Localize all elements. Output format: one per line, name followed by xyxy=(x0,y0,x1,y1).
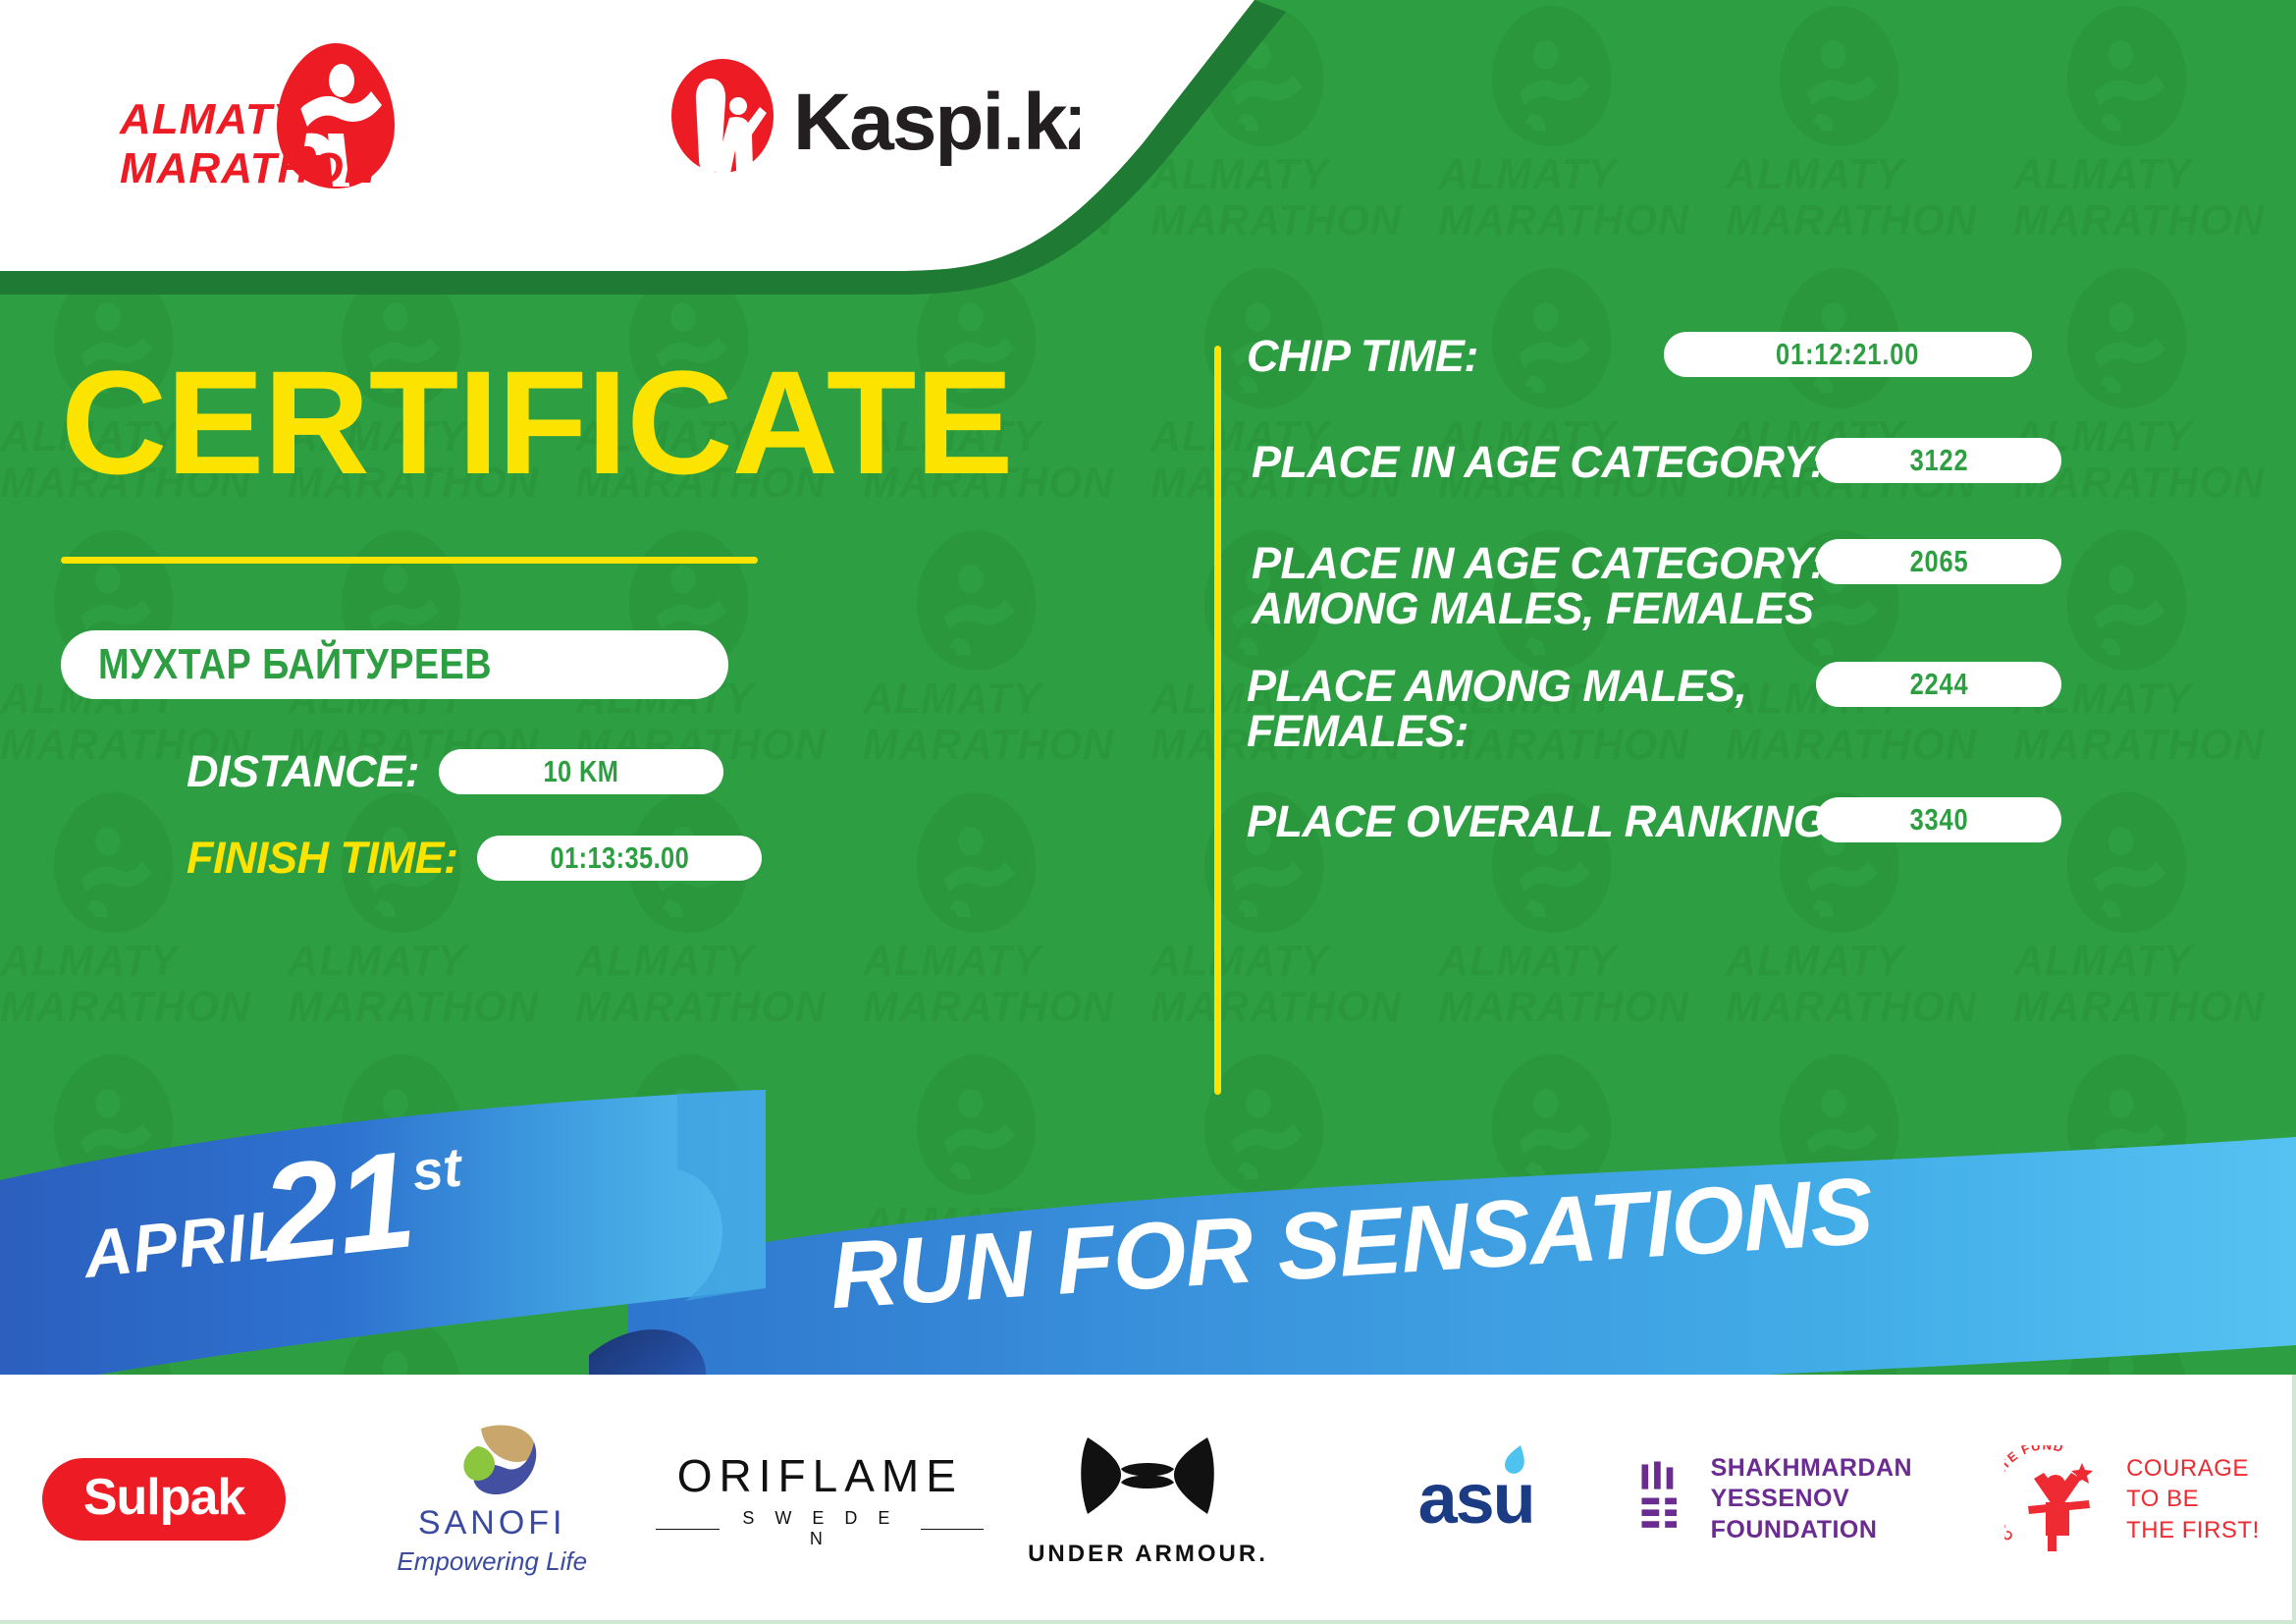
place-among-males-females-label: PLACE AMONG MALES, FEMALES: xyxy=(1247,664,1746,754)
finish-time-value: 01:13:35.00 xyxy=(551,840,690,876)
sponsor-yessenov-foundation: SHAKHMARDAN YESSENOV FOUNDATION xyxy=(1640,1406,1968,1593)
participant-name-field: МУХТАР БАЙТУРЕЕВ xyxy=(61,630,728,699)
place-overall-ranking-label: PLACE OVERALL RANKING: xyxy=(1247,799,1842,844)
finish-time-value-pill: 01:13:35.00 xyxy=(477,836,762,881)
footer-right-border xyxy=(2292,1375,2296,1624)
title-underline-rule xyxy=(61,557,758,564)
sponsor-sulpak: Sulpak xyxy=(0,1406,328,1593)
sulpak-logo-text: Sulpak xyxy=(42,1458,287,1541)
place-overall-ranking-value: 3340 xyxy=(1909,802,1968,838)
place-among-males-females-value-pill: 2244 xyxy=(1816,662,2061,707)
under-armour-logo-text: UNDER ARMOUR. xyxy=(1028,1541,1268,1568)
oriflame-rule-right xyxy=(921,1529,985,1530)
place-age-category-value: 3122 xyxy=(1909,443,1968,478)
place-overall-ranking-value-pill: 3340 xyxy=(1816,797,2061,842)
results-panel: CHIP TIME: 01:12:21.00 PLACE IN AGE CATE… xyxy=(1247,324,2296,1100)
place-age-category-among-label: PLACE IN AGE CATEGORY: AMONG MALES, FEMA… xyxy=(1252,541,1824,631)
header-logos: ALMATY MARATHON Kaspi.kz xyxy=(0,0,1178,245)
distance-row: DISTANCE: 10 KM xyxy=(187,746,723,797)
place-among-males-females-value: 2244 xyxy=(1909,667,1968,702)
sponsor-corporate-fund: CORPORATE FUND COURAGE TO BE THE FIRST! xyxy=(1968,1406,2296,1593)
certificate-left-panel: CERTIFICATE МУХТАР БАЙТУРЕЕВ DISTANCE: 1… xyxy=(0,324,1217,1100)
distance-label: DISTANCE: xyxy=(187,746,419,797)
chip-time-label: CHIP TIME: xyxy=(1247,334,1478,379)
yessenov-logo-text: SHAKHMARDAN YESSENOV FOUNDATION xyxy=(1711,1453,1968,1545)
participant-name-value: МУХТАР БАЙТУРЕЕВ xyxy=(98,640,492,689)
sanofi-logo-text: SANOFI xyxy=(397,1504,587,1543)
asu-droplet-icon xyxy=(1495,1443,1534,1483)
kaspi-logo-text: Kaspi.kz xyxy=(793,78,1080,167)
corporate-fund-logo-text: COURAGE TO BE THE FIRST! xyxy=(2126,1453,2260,1545)
ribbon-day-suffix: st xyxy=(409,1135,465,1204)
corporate-fund-runner-icon: CORPORATE FUND xyxy=(2004,1445,2112,1553)
under-armour-mark-icon xyxy=(1074,1432,1221,1530)
sanofi-mark-icon xyxy=(438,1423,546,1499)
footer-bottom-border xyxy=(0,1620,2296,1624)
almaty-marathon-logo: ALMATY MARATHON xyxy=(118,39,432,206)
place-age-category-label: PLACE IN AGE CATEGORY: xyxy=(1252,440,1824,485)
oriflame-rule-left xyxy=(656,1529,720,1530)
place-age-category-value-pill: 3122 xyxy=(1816,438,2061,483)
sponsor-asu: asu xyxy=(1312,1406,1640,1593)
sponsor-oriflame: ORIFLAME S W E D E N xyxy=(656,1406,984,1593)
certificate-canvas: ALMATY MARATHON ALMATY MARATHON xyxy=(0,0,2296,1624)
distance-value: 10 KM xyxy=(544,754,619,789)
kaspi-logo: Kaspi.kz xyxy=(667,57,1080,175)
sanofi-tagline: Empowering Life xyxy=(397,1546,587,1577)
certificate-title: CERTIFICATE xyxy=(61,349,1160,496)
vertical-divider xyxy=(1214,346,1221,1095)
chip-time-value-pill: 01:12:21.00 xyxy=(1664,332,2032,377)
place-age-category-among-value: 2065 xyxy=(1909,544,1968,579)
chip-time-value: 01:12:21.00 xyxy=(1776,337,1919,372)
sponsor-sanofi: SANOFI Empowering Life xyxy=(328,1406,656,1593)
oriflame-logo-text: ORIFLAME xyxy=(656,1449,984,1502)
oriflame-tagline: S W E D E N xyxy=(733,1508,907,1549)
almaty-logo-line2: MARATHON xyxy=(120,144,377,192)
ribbon-day: 21 xyxy=(255,1119,420,1293)
sponsor-strip: Sulpak SANOFI Empowering Life ORIFLAME S… xyxy=(0,1406,2296,1593)
finish-time-row: FINISH TIME: 01:13:35.00 xyxy=(187,833,762,884)
place-age-category-among-value-pill: 2065 xyxy=(1816,539,2061,584)
yessenov-mark-icon xyxy=(1640,1448,1685,1550)
distance-value-pill: 10 KM xyxy=(439,749,723,794)
sponsor-under-armour: UNDER ARMOUR. xyxy=(984,1406,1311,1593)
almaty-logo-line1: ALMATY xyxy=(119,95,305,143)
finish-time-label: FINISH TIME: xyxy=(187,833,457,884)
